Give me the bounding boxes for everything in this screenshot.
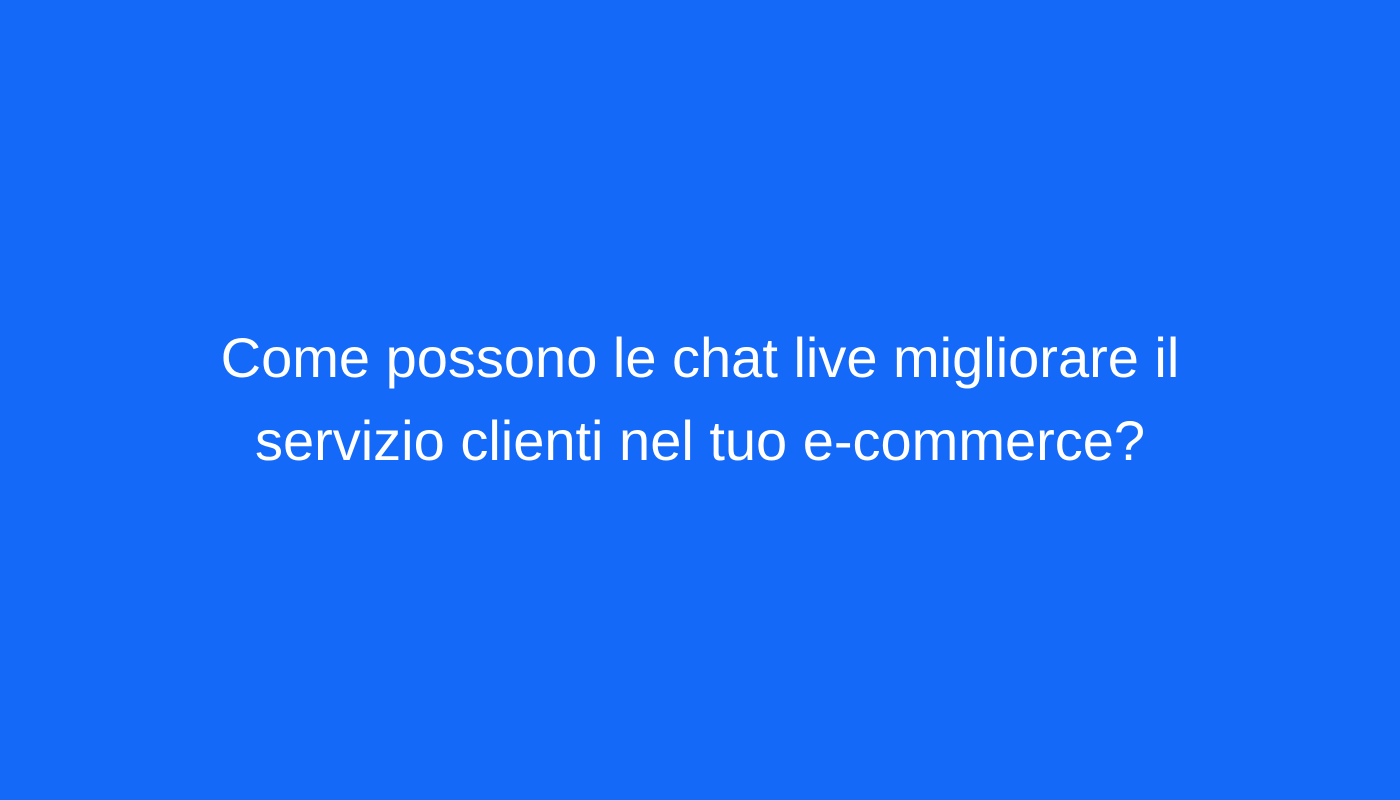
- hero-content-wrapper: Come possono le chat live migliorare il …: [140, 316, 1260, 482]
- page-title: Come possono le chat live migliorare il …: [170, 316, 1230, 482]
- hero-banner: Come possono le chat live migliorare il …: [0, 0, 1400, 800]
